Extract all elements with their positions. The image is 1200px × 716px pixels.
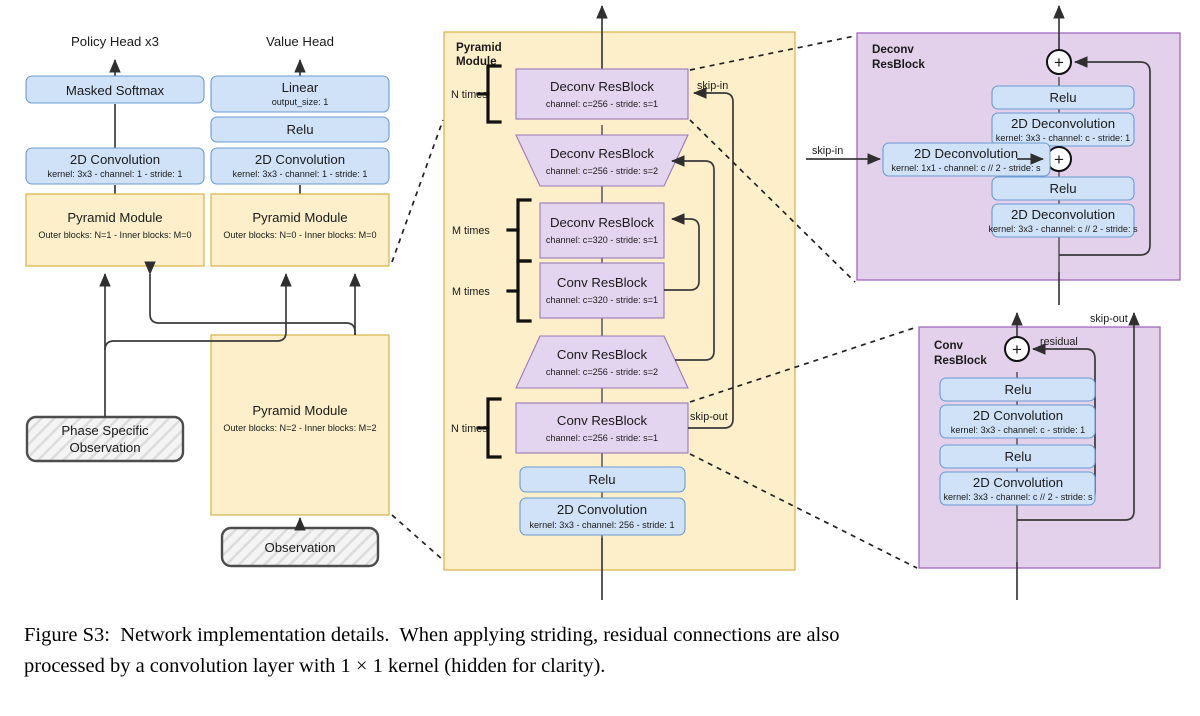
deconv-detail-deconv-3x3-half-sub: kernel: 3x3 - channel: c // 2 - stride: … — [988, 224, 1138, 234]
label-n-times-top: N times — [451, 89, 488, 101]
skip-in-label: skip-in — [697, 80, 728, 92]
pyr-deconv-s2-sub: channel: c=256 - stride: s=2 — [546, 166, 658, 176]
policy-head-title: Policy Head x3 — [71, 34, 159, 49]
pyr-deconv-outer-label: Deconv ResBlock — [550, 79, 654, 94]
pyr-deconv-inner-sub: channel: c=320 - stride: s=1 — [546, 235, 658, 245]
deconv-detail-title-1: Deconv — [872, 43, 914, 56]
conv-detail-skip-out-label: skip-out — [1090, 313, 1128, 325]
pyr-conv-resblock-inner[interactable] — [540, 263, 664, 318]
figure-root: Policy Head x3 Masked Softmax 2D Convolu… — [0, 0, 1200, 716]
deconv-detail-deconv-1x1-sub: kernel: 1x1 - channel: c // 2 - stride: … — [891, 163, 1041, 173]
zoom-connector-trunk-bottom — [392, 515, 443, 560]
value-linear-sub: output_size: 1 — [272, 97, 329, 107]
figure-caption-line-1: Figure S3: Network implementation detail… — [24, 620, 1180, 651]
policy-pyramid-label: Pyramid Module — [67, 210, 162, 225]
label-m-times-top: M times — [452, 225, 490, 237]
conv-detail-relu-bottom-label: Relu — [1004, 449, 1031, 464]
zoom-connector-trunk-top — [392, 120, 443, 262]
pyr-conv-inner-sub: channel: c=320 - stride: s=1 — [546, 295, 658, 305]
conv-detail-add-symbol: + — [1012, 340, 1022, 359]
deconv-detail-add-top-symbol: + — [1054, 53, 1064, 72]
deconv-detail-deconv-1x1-label: 2D Deconvolution — [914, 146, 1018, 161]
phase-observation-label-2: Observation — [69, 440, 140, 455]
conv-detail-relu-top-label: Relu — [1004, 382, 1031, 397]
pyr-deconv-outer-sub: channel: c=256 - stride: s=1 — [546, 99, 658, 109]
pyr-conv-s2-label: Conv ResBlock — [557, 347, 648, 362]
conv-detail-conv-3x3-c-sub: kernel: 3x3 - channel: c - stride: 1 — [951, 425, 1085, 435]
figure-caption-line-2: processed by a convolution layer with 1 … — [24, 651, 1180, 682]
value-head-title: Value Head — [266, 34, 334, 49]
skip-out-label: skip-out — [690, 411, 728, 423]
value-linear-label: Linear — [282, 80, 319, 95]
pyr-conv-inner-label: Conv ResBlock — [557, 275, 648, 290]
figure-caption: Figure S3: Network implementation detail… — [24, 620, 1180, 682]
deconv-detail-skip-in-label: skip-in — [812, 145, 843, 157]
value-pyramid-label: Pyramid Module — [252, 210, 347, 225]
pyramid-module-panel-title-1: Pyramid — [456, 41, 502, 54]
observation-label: Observation — [264, 540, 335, 555]
pyr-deconv-resblock-inner[interactable] — [540, 203, 664, 258]
policy-conv2d-sub: kernel: 3x3 - channel: 1 - stride: 1 — [48, 169, 183, 179]
pyr-relu-label: Relu — [588, 472, 615, 487]
deconv-detail-add-mid-symbol: + — [1054, 150, 1064, 169]
deconv-detail-title-2: ResBlock — [872, 58, 925, 71]
pyr-deconv-inner-label: Deconv ResBlock — [550, 215, 654, 230]
pyr-conv-s2-sub: channel: c=256 - stride: s=2 — [546, 367, 658, 377]
conv-detail-title-2: ResBlock — [934, 354, 987, 367]
value-pyramid-sub: Outer blocks: N=0 - Inner blocks: M=0 — [223, 230, 376, 240]
deconv-detail-deconv-3x3-half-label: 2D Deconvolution — [1011, 207, 1115, 222]
conv-detail-conv-3x3-half-label: 2D Convolution — [973, 475, 1063, 490]
edge-trunk-to-policy-pyramid — [150, 274, 355, 335]
policy-conv2d-label: 2D Convolution — [70, 152, 160, 167]
conv-detail-conv-3x3-c-label: 2D Convolution — [973, 408, 1063, 423]
diagram-canvas: Policy Head x3 Masked Softmax 2D Convolu… — [0, 0, 1200, 716]
deconv-detail-relu-bottom-label: Relu — [1049, 181, 1076, 196]
pyr-conv2d-entry-label: 2D Convolution — [557, 502, 647, 517]
pyr-conv-outer-sub: channel: c=256 - stride: s=1 — [546, 433, 658, 443]
conv-detail-title-1: Conv — [934, 339, 964, 352]
pyr-conv-resblock-outer[interactable] — [516, 403, 688, 453]
trunk-pyramid-sub: Outer blocks: N=2 - Inner blocks: M=2 — [223, 423, 376, 433]
pyr-conv2d-entry-sub: kernel: 3x3 - channel: 256 - stride: 1 — [529, 520, 674, 530]
label-m-times-bottom: M times — [452, 286, 490, 298]
conv-detail-residual-label: residual — [1040, 336, 1078, 348]
pyr-deconv-s2-label: Deconv ResBlock — [550, 146, 654, 161]
value-conv2d-sub: kernel: 3x3 - channel: 1 - stride: 1 — [233, 169, 368, 179]
trunk-pyramid-label: Pyramid Module — [252, 403, 347, 418]
label-n-times-bottom: N times — [451, 423, 488, 435]
conv-detail-conv-3x3-half-sub: kernel: 3x3 - channel: c // 2 - stride: … — [943, 492, 1093, 502]
deconv-detail-relu-top-label: Relu — [1049, 90, 1076, 105]
pyr-conv-resblock-stride2[interactable] — [516, 336, 688, 388]
policy-pyramid-sub: Outer blocks: N=1 - Inner blocks: M=0 — [38, 230, 191, 240]
phase-observation-label-1: Phase Specific — [61, 423, 149, 438]
policy-masked-softmax-label: Masked Softmax — [66, 83, 165, 98]
pyr-conv-outer-label: Conv ResBlock — [557, 413, 648, 428]
deconv-detail-deconv-3x3-c-label: 2D Deconvolution — [1011, 116, 1115, 131]
value-relu-label: Relu — [286, 122, 313, 137]
pyr-deconv-resblock-outer[interactable] — [516, 69, 688, 119]
value-conv2d-label: 2D Convolution — [255, 152, 345, 167]
deconv-detail-deconv-3x3-c-sub: kernel: 3x3 - channel: c - stride: 1 — [996, 133, 1130, 143]
